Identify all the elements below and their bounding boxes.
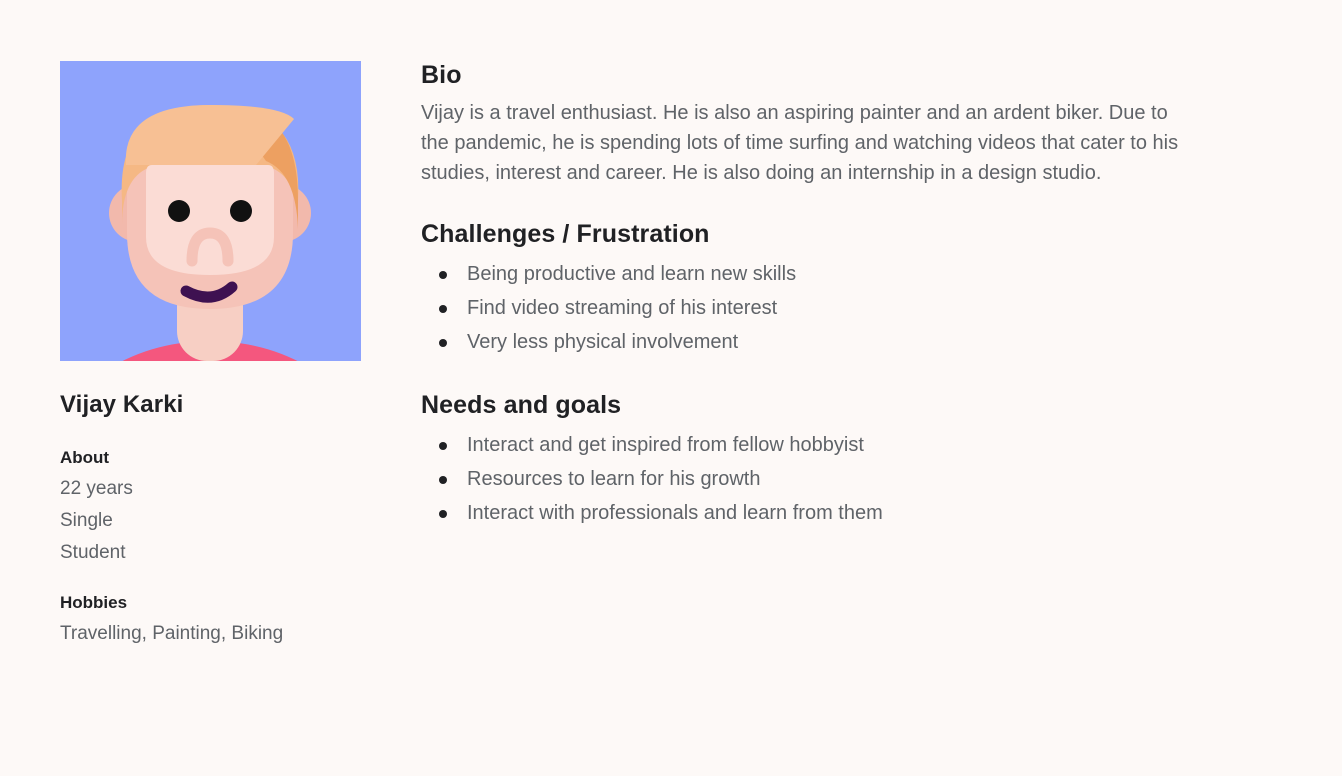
hobbies-title: Hobbies (60, 592, 283, 614)
hobbies-line: Travelling, Painting, Biking (60, 618, 283, 650)
list-item: Being productive and learn new skills (421, 257, 1201, 291)
person-name: Vijay Karki (60, 391, 183, 419)
user-persona-card: Vijay Karki About 22 years Single Studen… (0, 0, 1342, 776)
challenges-title: Challenges / Frustration (421, 217, 1201, 251)
bio-section: Bio Vijay is a travel enthusiast. He is … (421, 58, 1201, 188)
list-item: Interact and get inspired from fellow ho… (421, 428, 1201, 462)
needs-section: Needs and goals Interact and get inspire… (421, 388, 1201, 530)
bio-text: Vijay is a travel enthusiast. He is also… (421, 98, 1181, 188)
details-column: Bio Vijay is a travel enthusiast. He is … (421, 58, 1201, 530)
list-item: Interact with professionals and learn fr… (421, 496, 1201, 530)
list-item: Find video streaming of his interest (421, 291, 1201, 325)
list-item: Resources to learn for his growth (421, 462, 1201, 496)
needs-title: Needs and goals (421, 388, 1201, 422)
about-line-status: Single (60, 505, 133, 537)
bio-title: Bio (421, 58, 1201, 92)
needs-list: Interact and get inspired from fellow ho… (421, 428, 1201, 530)
list-item: Very less physical involvement (421, 325, 1201, 359)
about-title: About (60, 447, 133, 469)
about-block: About 22 years Single Student (60, 447, 133, 569)
profile-column: Vijay Karki About 22 years Single Studen… (60, 61, 390, 361)
challenges-section: Challenges / Frustration Being productiv… (421, 217, 1201, 359)
challenges-list: Being productive and learn new skills Fi… (421, 257, 1201, 359)
avatar-eye-left (168, 200, 190, 222)
about-line-age: 22 years (60, 473, 133, 505)
avatar-eye-right (230, 200, 252, 222)
avatar (60, 61, 361, 361)
hobbies-block: Hobbies Travelling, Painting, Biking (60, 592, 283, 650)
about-line-occupation: Student (60, 537, 133, 569)
